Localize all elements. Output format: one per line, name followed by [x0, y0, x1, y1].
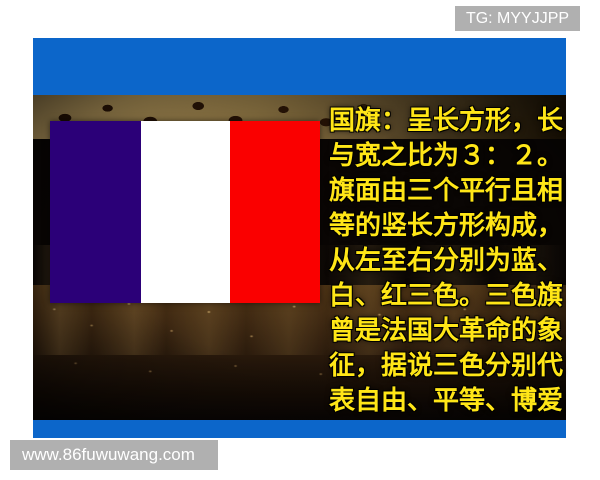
slide-canvas: 国旗：呈长方形，长 与宽之比为３：２。 旗面由三个平行且相 等的竖长方形构成， … [0, 0, 600, 480]
french-flag [50, 121, 320, 303]
caption-line: 国旗：呈长方形，长 [329, 104, 577, 139]
site-url-watermark: www.86fuwuwang.com [10, 440, 218, 470]
caption-line: 从左至右分别为蓝、 [329, 244, 577, 279]
caption-line: 旗面由三个平行且相 [329, 174, 577, 209]
flag-description-caption: 国旗：呈长方形，长 与宽之比为３：２。 旗面由三个平行且相 等的竖长方形构成， … [329, 104, 577, 419]
flag-stripe-red [230, 121, 320, 303]
caption-line: 征，据说三色分别代 [329, 349, 577, 384]
flag-stripe-blue [50, 121, 141, 303]
caption-line: 白、红三色。三色旗 [329, 279, 577, 314]
caption-line: 与宽之比为３：２。 [329, 139, 577, 174]
caption-line: 等的竖长方形构成， [329, 209, 577, 244]
telegram-watermark: TG: MYYJJPP [455, 6, 580, 31]
caption-line: 曾是法国大革命的象 [329, 314, 577, 349]
caption-line: 表自由、平等、博爱 [329, 384, 577, 419]
flag-stripe-white [141, 121, 230, 303]
